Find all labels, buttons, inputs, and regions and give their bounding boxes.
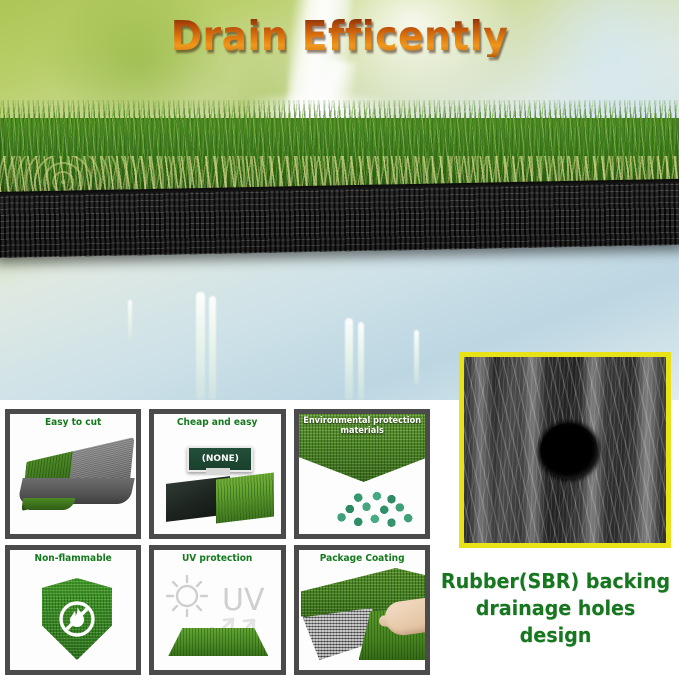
- card-image-none-sign: (NONE): [154, 414, 280, 534]
- rubber-backing-photo: [459, 352, 671, 548]
- rubber-backing-caption: Rubber(SBR) backing drainage holes desig…: [441, 568, 671, 649]
- turf-mat-icon: [168, 628, 268, 656]
- water-drip-icon: [345, 318, 353, 400]
- caption-line-2: drainage holes design: [441, 595, 671, 649]
- turf-mesh-backing: [0, 183, 679, 258]
- none-sign-stand: [206, 468, 230, 475]
- drainage-hole-icon: [540, 423, 598, 479]
- green-pellets-icon: [327, 490, 425, 528]
- water-drip-icon: [196, 292, 205, 400]
- no-fire-icon: [56, 598, 98, 640]
- feature-card-environmental-protection-materials: Environmental protection materials: [294, 409, 430, 539]
- feature-card-grid: Easy to cut (NONE) Cheap and easy Enviro…: [5, 409, 430, 675]
- caption-line-1: Rubber(SBR) backing: [441, 568, 671, 595]
- feature-title-package-coating: Package Coating: [302, 553, 422, 564]
- feature-card-non-flammable: Non-flammable: [5, 545, 141, 675]
- infographic-page: Drain Efficently Rubber(SBR) backing dra…: [0, 0, 679, 679]
- feature-card-uv-protection: UV UV protection: [149, 545, 285, 675]
- card-image-shield: [10, 550, 136, 670]
- turf-roll-green-lip: [21, 498, 76, 510]
- card-image-uv: UV: [154, 550, 280, 670]
- green-turf-sheet: [216, 472, 274, 523]
- feature-card-easy-to-cut: Easy to cut: [5, 409, 141, 539]
- feature-title-uv-protection: UV protection: [157, 553, 277, 564]
- hero-photo: Drain Efficently: [0, 0, 679, 400]
- rubber-ridge: [470, 353, 496, 548]
- page-title: Drain Efficently: [27, 16, 652, 57]
- feature-card-cheap-and-easy: (NONE) Cheap and easy: [149, 409, 285, 539]
- feature-title-cheap-and-easy: Cheap and easy: [157, 417, 277, 428]
- water-drip-icon: [358, 322, 364, 400]
- turf-mat-cross-section: [0, 118, 679, 303]
- feature-card-package-coating: Package Coating: [294, 545, 430, 675]
- water-drip-icon: [128, 300, 132, 340]
- water-drip-icon: [209, 296, 216, 400]
- water-drip-icon: [414, 330, 419, 384]
- rubber-ridge: [636, 353, 662, 548]
- feature-title-easy-to-cut: Easy to cut: [13, 417, 133, 428]
- card-image-hand-lifting-turf: [299, 550, 425, 670]
- uv-text: UV: [222, 583, 265, 618]
- feature-title-non-flammable: Non-flammable: [13, 553, 133, 564]
- feature-title-environmental-protection-materials: Environmental protection materials: [302, 416, 422, 436]
- card-image-folded-turf-roll: [10, 414, 136, 534]
